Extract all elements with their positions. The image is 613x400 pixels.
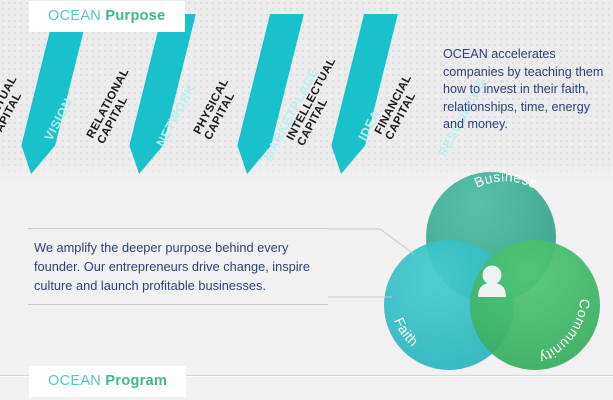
chip-word-program: Program (105, 373, 167, 389)
chip-word-purpose: Purpose (105, 8, 165, 24)
chip-word-ocean: OCEAN (48, 8, 101, 24)
infographic-canvas: SPIRITUAL CAPITAL VISION RELATIONAL CAPI… (0, 0, 613, 400)
chip-word-ocean: OCEAN (48, 373, 101, 389)
section-label-ocean-program: OCEAN Program (30, 367, 185, 396)
callout-text: We amplify the deeper purpose behind eve… (28, 229, 328, 304)
callout-bottom-rule (28, 304, 328, 305)
venn-diagram: Business Faith Community (370, 163, 613, 379)
section-label-ocean-purpose: OCEAN Purpose (30, 2, 184, 31)
callout-box: We amplify the deeper purpose behind eve… (28, 228, 328, 305)
purpose-description-text: OCEAN accelerates companies by teaching … (443, 46, 611, 134)
